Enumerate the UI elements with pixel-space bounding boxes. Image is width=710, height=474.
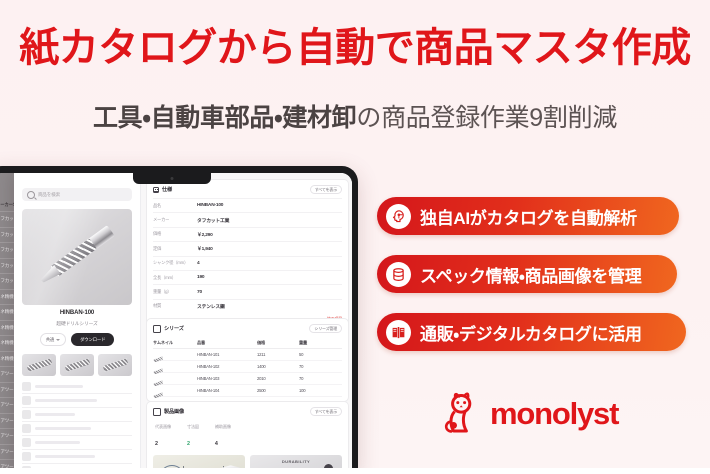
feature-badge-2: スペック情報・商品画像を管理: [377, 255, 677, 293]
row-price: 2500: [257, 388, 299, 393]
spec-value: HINBAN-100: [197, 203, 342, 208]
list-item[interactable]: [22, 380, 132, 394]
spec-row: 定価￥1,940: [153, 241, 342, 255]
format-select[interactable]: 共通: [40, 333, 66, 346]
subtitle-rest: の商品登録作業9割削減: [356, 104, 617, 132]
page-title: 紙カタログから自動で商品マスタ作成: [0, 26, 710, 71]
hero-banner: 紙カタログから自動で商品マスタ作成 工具・自動車部品・建材卸の商品登録作業9割削…: [0, 0, 710, 474]
list-item[interactable]: [22, 408, 132, 422]
product-subtitle: 超硬ドリルシリーズ: [14, 320, 140, 327]
spec-card-title: 仕様: [162, 186, 172, 193]
spec-key: 価格: [153, 231, 197, 237]
spec-key: 定価: [153, 246, 197, 252]
row-weight: 100: [299, 388, 342, 393]
bottom-edge: [0, 468, 710, 474]
row-weight: 50: [299, 352, 342, 357]
image-stat-value: 2: [187, 441, 190, 447]
download-button[interactable]: ダウンロード: [71, 333, 114, 346]
brand-logo: monolyst: [437, 391, 618, 435]
image-stat-label: 代表画像: [155, 424, 171, 430]
table-row[interactable]: HINBAN-1042500100: [153, 385, 342, 397]
thumbnail-item[interactable]: [60, 354, 94, 376]
images-show-all-button[interactable]: すべてを表示: [310, 407, 342, 416]
spec-value: 4: [197, 261, 342, 266]
search-icon: [27, 191, 35, 199]
thumbnail-item[interactable]: [98, 354, 132, 376]
spec-value: タフカット工業: [197, 217, 342, 224]
feature-badge-3: 通販・デジタルカタログに活用: [377, 313, 686, 351]
chevron-down-icon: [56, 339, 60, 341]
spec-show-all-button[interactable]: すべてを表示: [310, 185, 342, 194]
feature-badge-1-label: 独自AIがカタログを自動解析: [420, 204, 637, 229]
spec-row: 材質ステンレス鋼: [153, 299, 342, 313]
product-hero-image[interactable]: [22, 209, 132, 305]
images-stats: 代表画像2寸法図2補助画像4: [147, 420, 348, 455]
list-item[interactable]: [22, 436, 132, 450]
spec-card: 仕様 すべてを表示 品名HINBAN-100メーカータフカット工業価格￥2,29…: [146, 179, 349, 327]
series-card-header: シリーズ シリーズ管理: [147, 319, 348, 337]
laptop-notch: [133, 173, 211, 184]
image-stat-value: 2: [155, 441, 158, 447]
spec-value: ステンレス鋼: [197, 303, 342, 310]
image-stat-value: 4: [215, 441, 218, 447]
search-placeholder: 商品を検索: [38, 192, 60, 198]
image-stat: 寸法図2: [187, 424, 199, 450]
spec-value: ￥1,940: [197, 245, 342, 252]
product-list: [22, 380, 132, 474]
series-manage-button[interactable]: シリーズ管理: [309, 324, 342, 333]
list-item[interactable]: [22, 422, 132, 436]
laptop-body: ✕ メーカー名 ステータス タフカット工業タフカット工業タフカット工業タフカット…: [0, 166, 358, 474]
product-title: HINBAN-100: [14, 310, 140, 316]
row-price: 2010: [257, 376, 299, 381]
laptop-mockup: ✕ メーカー名 ステータス タフカット工業タフカット工業タフカット工業タフカット…: [0, 166, 376, 474]
thumbnail-item[interactable]: [22, 354, 56, 376]
series-table-header: サムネイル 品番 価格 重量: [153, 337, 342, 349]
spec-value: 190: [197, 275, 342, 280]
product-panel: 商品を検索 HINBAN-100 超硬ドリルシリーズ: [14, 173, 141, 474]
spec-key: 全長（mm）: [153, 275, 197, 281]
database-icon: [386, 262, 411, 287]
images-card-title: 製品画像: [164, 408, 184, 415]
row-price: 1400: [257, 364, 299, 369]
grid-icon: [153, 187, 159, 193]
list-item[interactable]: [22, 394, 132, 408]
table-row[interactable]: HINBAN-103201070: [153, 373, 342, 385]
image-stat-label: 補助画像: [215, 424, 231, 430]
detail-panel: 仕様 すべてを表示 品名HINBAN-100メーカータフカット工業価格￥2,29…: [141, 173, 352, 474]
cat-mark-icon: [437, 391, 479, 435]
spec-table: 品名HINBAN-100メーカータフカット工業価格￥2,290定価￥1,940シ…: [147, 198, 348, 316]
row-weight: 70: [299, 364, 342, 369]
feature-badge-3-label: 通販・デジタルカタログに活用: [420, 320, 642, 345]
image-icon: [153, 408, 161, 416]
subtitle-strong: 工具・自動車部品・建材卸: [93, 104, 356, 132]
spec-row: 品名HINBAN-100: [153, 198, 342, 212]
row-price: 1211: [257, 352, 299, 357]
series-icon: [153, 325, 161, 333]
spec-value: 70: [197, 290, 342, 295]
app-window: 商品を検索 HINBAN-100 超硬ドリルシリーズ: [14, 173, 352, 474]
image-stat: 代表画像2: [155, 424, 171, 450]
spec-row: メーカータフカット工業: [153, 212, 342, 226]
spec-key: 品名: [153, 203, 197, 209]
series-card: シリーズ シリーズ管理 サムネイル 品番 価格: [146, 318, 349, 402]
spec-row: 全長（mm）190: [153, 270, 342, 284]
row-part-number: HINBAN-103: [197, 376, 257, 381]
search-input[interactable]: 商品を検索: [22, 188, 132, 201]
series-card-title: シリーズ: [164, 325, 184, 332]
spec-row: 価格￥2,290: [153, 227, 342, 241]
open-book-icon: [386, 320, 411, 345]
spec-row: 重量（g）70: [153, 284, 342, 298]
row-weight: 70: [299, 376, 342, 381]
product-thumbnail-strip: [22, 354, 132, 376]
row-part-number: HINBAN-101: [197, 352, 257, 357]
feature-badge-1: 独自AIがカタログを自動解析: [377, 197, 679, 235]
product-actions: 共通 ダウンロード: [14, 333, 140, 346]
image-stat: 補助画像4: [215, 424, 231, 450]
spec-row: シャンク径（mm）4: [153, 256, 342, 270]
images-card: 製品画像 すべてを表示 代表画像2寸法図2補助画像4: [146, 401, 349, 474]
feature-badge-2-label: スペック情報・商品画像を管理: [420, 262, 641, 287]
row-part-number: HINBAN-102: [197, 364, 257, 369]
format-select-value: 共通: [46, 337, 54, 343]
series-table: サムネイル 品番 価格 重量 HINBAN-101121150HINBAN-10…: [147, 337, 348, 401]
download-label: ダウンロード: [80, 337, 105, 343]
spec-key: 材質: [153, 303, 197, 309]
logo-text: monolyst: [490, 398, 618, 429]
spec-key: シャンク径（mm）: [153, 260, 197, 266]
list-item[interactable]: [22, 450, 132, 464]
spec-key: 重量（g）: [153, 289, 197, 295]
laptop-screen: ✕ メーカー名 ステータス タフカット工業タフカット工業タフカット工業タフカット…: [0, 173, 352, 474]
table-row[interactable]: HINBAN-101121150: [153, 349, 342, 361]
image-stat-label: 寸法図: [187, 424, 199, 430]
images-card-header: 製品画像 すべてを表示: [147, 402, 348, 420]
spec-key: メーカー: [153, 217, 197, 223]
ai-brain-icon: [386, 204, 411, 229]
row-part-number: HINBAN-104: [197, 388, 257, 393]
spec-value: ￥2,290: [197, 231, 342, 238]
table-row[interactable]: HINBAN-102140070: [153, 361, 342, 373]
page-subtitle: 工具・自動車部品・建材卸の商品登録作業9割削減: [0, 104, 710, 133]
